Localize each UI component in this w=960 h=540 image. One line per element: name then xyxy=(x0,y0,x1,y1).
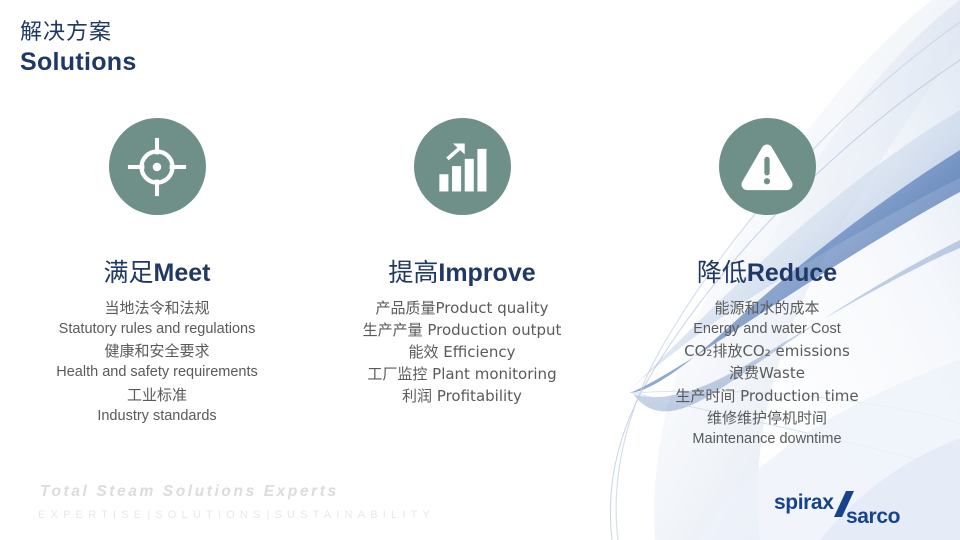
column-line: 能效 Efficiency xyxy=(363,341,562,363)
logo-word-spirax: spirax xyxy=(774,491,834,514)
solution-column-improve: 提高Improve 产品质量Product quality 生产产量 Produ… xyxy=(312,118,612,450)
solution-column-reduce: 降低Reduce 能源和水的成本 Energy and water Cost C… xyxy=(617,118,917,450)
bar-chart-growth-icon xyxy=(433,138,491,196)
footer-pillar-separator: | xyxy=(147,509,150,521)
column-lines-improve: 产品质量Product quality 生产产量 Production outp… xyxy=(363,297,562,408)
column-line: Health and safety requirements xyxy=(56,362,258,383)
footer-pillar-solutions: SOLUTIONS xyxy=(155,509,265,521)
column-heading-improve: 提高Improve xyxy=(388,259,535,288)
footer-tagline: Total Steam Solutions Experts xyxy=(40,483,339,501)
column-line: 浪费Waste xyxy=(675,362,858,384)
column-heading-en: Improve xyxy=(438,259,535,287)
column-heading-cn: 满足 xyxy=(104,258,154,287)
column-lines-meet: 当地法令和法规 Statutory rules and regulations … xyxy=(56,297,258,428)
logo-word-sarco: sarco xyxy=(846,505,900,528)
column-line: 利润 Profitability xyxy=(363,385,562,407)
page-title: 解决方案 Solutions xyxy=(20,22,137,75)
column-line: 生产产量 Production output xyxy=(363,319,562,341)
warning-triangle-icon xyxy=(737,137,797,197)
column-line: 生产时间 Production time xyxy=(675,385,858,407)
page-title-cn: 解决方案 xyxy=(20,22,137,44)
footer-pillar-separator: | xyxy=(267,509,270,521)
column-heading-meet: 满足Meet xyxy=(104,259,211,288)
warning-triangle-icon-badge xyxy=(719,118,816,215)
column-heading-reduce: 降低Reduce xyxy=(697,259,837,288)
column-heading-en: Reduce xyxy=(747,259,837,287)
column-line: 产品质量Product quality xyxy=(363,297,562,319)
bar-chart-growth-icon-badge xyxy=(414,118,511,215)
solution-column-meet: 满足Meet 当地法令和法规 Statutory rules and regul… xyxy=(7,118,307,450)
page-title-en: Solutions xyxy=(20,50,137,75)
column-line: CO₂排放CO₂ emissions xyxy=(675,340,858,362)
column-line: Energy and water Cost xyxy=(675,319,858,340)
column-heading-cn: 降低 xyxy=(697,258,747,287)
slide-canvas: 解决方案 Solutions 满足Meet xyxy=(0,0,960,540)
target-crosshair-icon-badge xyxy=(109,118,206,215)
target-crosshair-icon xyxy=(126,136,188,198)
solutions-columns: 满足Meet 当地法令和法规 Statutory rules and regul… xyxy=(0,118,960,450)
column-lines-reduce: 能源和水的成本 Energy and water Cost CO₂排放CO₂ e… xyxy=(675,297,858,451)
column-line: 健康和安全要求 xyxy=(56,340,258,362)
column-heading-en: Meet xyxy=(154,259,211,287)
footer-pillars: EXPERTISE | SOLUTIONS | SUSTAINABILITY xyxy=(38,509,435,521)
column-line: 工业标准 xyxy=(56,384,258,406)
column-line: Industry standards xyxy=(56,406,258,427)
footer-pillar-sustainability: SUSTAINABILITY xyxy=(274,509,435,521)
column-line: Maintenance downtime xyxy=(675,429,858,450)
column-line: 能源和水的成本 xyxy=(675,297,858,319)
column-line: 工厂监控 Plant monitoring xyxy=(363,363,562,385)
column-line: Statutory rules and regulations xyxy=(56,319,258,340)
column-line: 当地法令和法规 xyxy=(56,297,258,319)
footer-pillar-expertise: EXPERTISE xyxy=(38,509,146,521)
spirax-sarco-logo: spirax sarco xyxy=(772,487,948,531)
column-line: 维修维护停机时间 xyxy=(675,407,858,429)
column-heading-cn: 提高 xyxy=(388,258,438,287)
